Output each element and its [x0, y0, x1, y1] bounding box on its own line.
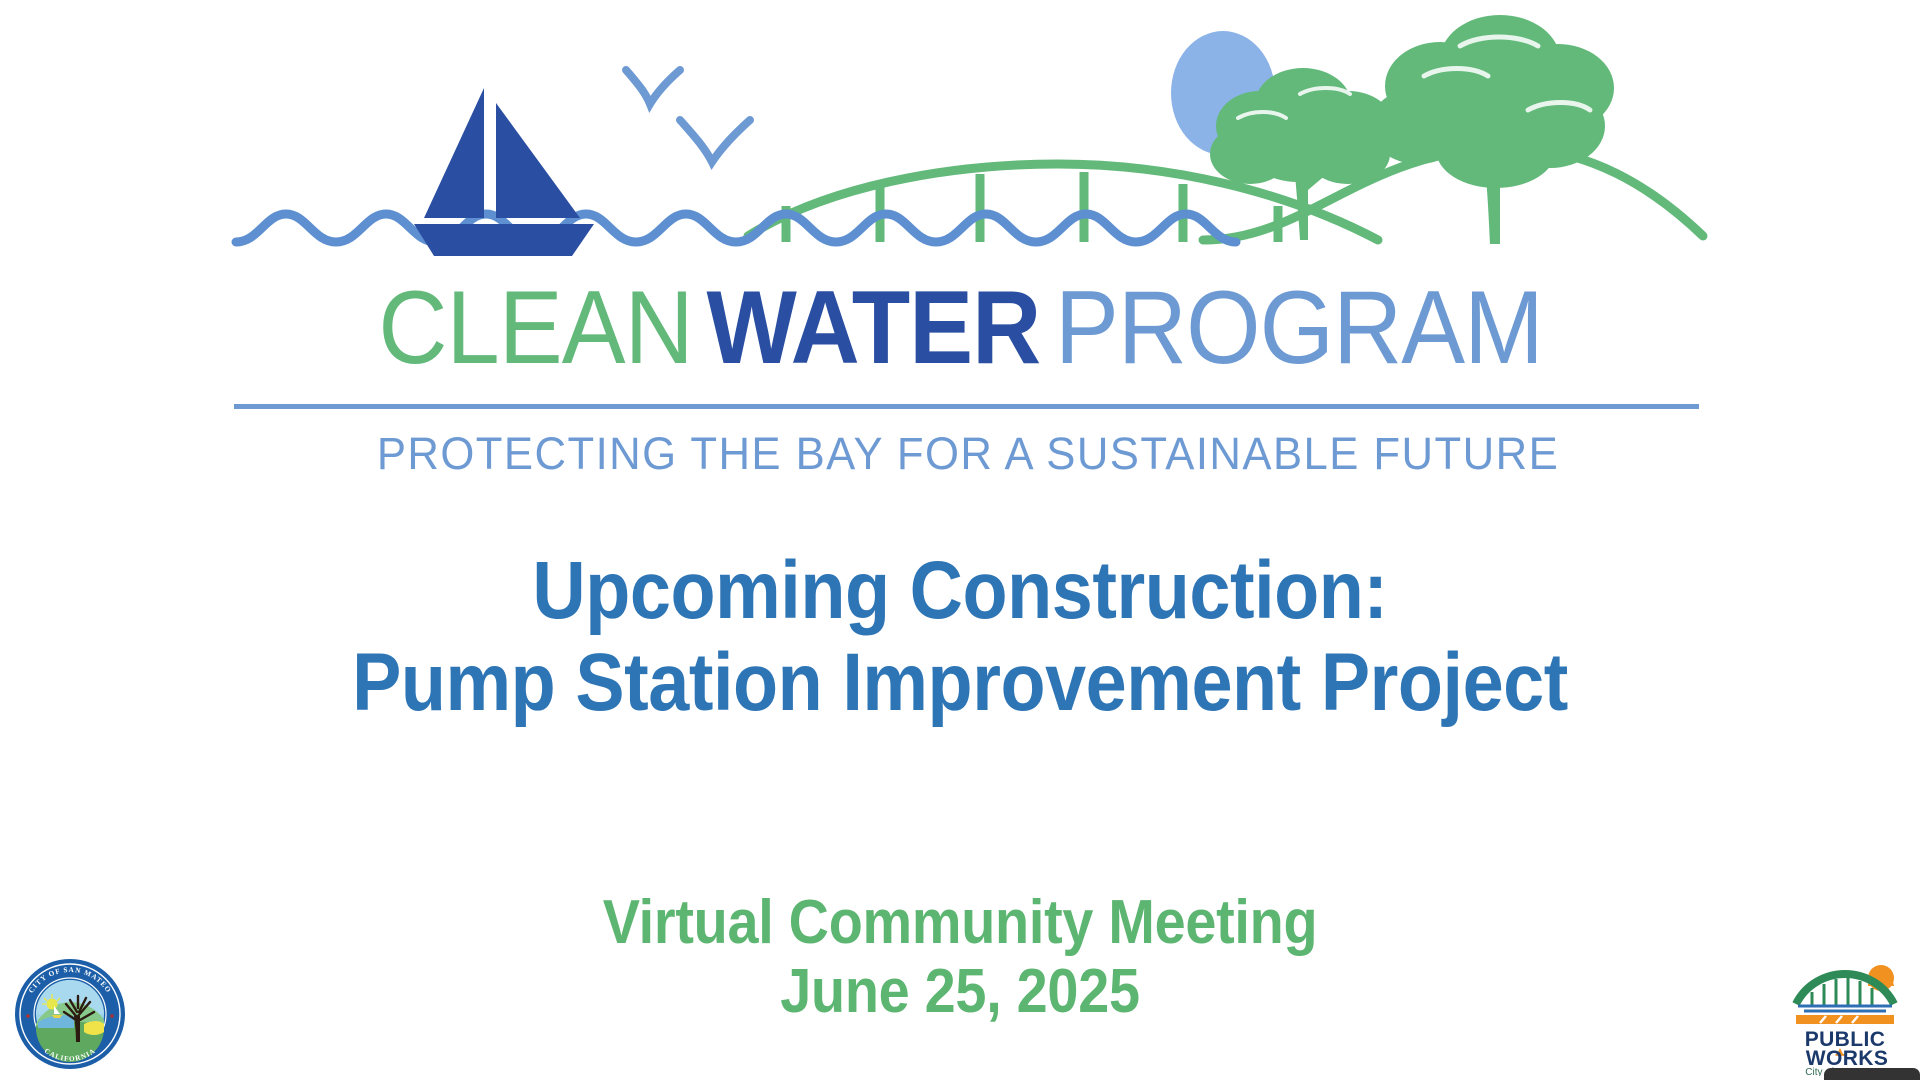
wordmark-program: PROGRAM — [1055, 276, 1543, 380]
logo-tagline: PROTECTING THE BAY FOR A SUSTAINABLE FUT… — [250, 428, 1686, 480]
video-player-control-bar[interactable] — [1824, 1068, 1920, 1080]
subtitle-line-2: June 25, 2025 — [96, 957, 1824, 1026]
logo-wordmark: CLEANWATERPROGRAM — [228, 276, 1708, 386]
presentation-slide: CLEANWATERPROGRAM PROTECTING THE BAY FOR… — [0, 0, 1920, 1080]
slide-title: Upcoming Construction: Pump Station Impr… — [0, 545, 1920, 729]
title-line-1: Upcoming Construction: — [96, 545, 1824, 637]
city-of-san-mateo-seal: CITY OF SAN MATEO CALIFORNIA — [14, 958, 126, 1070]
trees-icon — [1210, 15, 1614, 244]
public-works-logo: PUBLIC WORKS City of San Mateo — [1784, 948, 1906, 1076]
pw-road-icon — [1796, 1015, 1894, 1024]
sailboat-icon — [414, 88, 594, 256]
clean-water-program-logo: CLEANWATERPROGRAM PROTECTING THE BAY FOR… — [228, 8, 1708, 478]
slide-subtitle: Virtual Community Meeting June 25, 2025 — [0, 888, 1920, 1027]
wordmark-water: WATER — [707, 276, 1041, 380]
wordmark-clean: CLEAN — [378, 276, 692, 380]
subtitle-line-1: Virtual Community Meeting — [96, 888, 1824, 957]
logo-illustration — [228, 8, 1708, 293]
pw-water-icon — [1798, 1006, 1892, 1011]
title-line-2: Pump Station Improvement Project — [96, 637, 1824, 729]
logo-divider-rule — [234, 404, 1699, 409]
birds-icon — [626, 70, 750, 162]
